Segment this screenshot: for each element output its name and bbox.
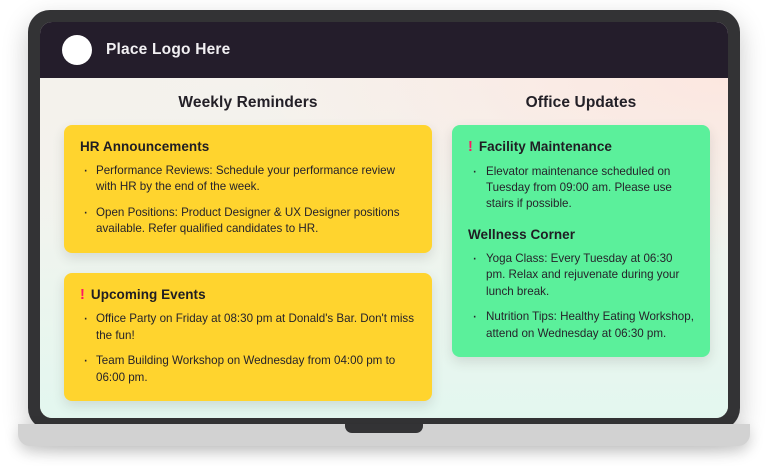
card-title-hr-announcements: HR Announcements	[80, 139, 416, 154]
section-title-office-updates: Office Updates	[452, 94, 710, 112]
card-heading-label: Upcoming Events	[91, 287, 206, 302]
list-item: Nutrition Tips: Healthy Eating Workshop,…	[468, 309, 694, 342]
laptop-base-notch	[345, 424, 423, 433]
logo-text: Place Logo Here	[106, 41, 230, 59]
list-item: Performance Reviews: Schedule your perfo…	[80, 163, 416, 196]
laptop-base	[18, 424, 750, 446]
bullet-list-wellness-corner: Yoga Class: Every Tuesday at 06:30 pm. R…	[468, 251, 694, 342]
weekly-reminders-column: Weekly Reminders HR Announcements Perfor…	[64, 94, 432, 408]
top-bar: Place Logo Here	[40, 22, 728, 78]
section-title-weekly-reminders: Weekly Reminders	[64, 94, 432, 112]
card-title-facility-maintenance: ! Facility Maintenance	[468, 139, 694, 155]
page-body: Weekly Reminders HR Announcements Perfor…	[40, 78, 728, 418]
card-heading-label: Wellness Corner	[468, 227, 575, 242]
alert-exclamation-icon: !	[80, 288, 85, 303]
card-upcoming-events[interactable]: ! Upcoming Events Office Party on Friday…	[64, 273, 432, 401]
card-office-updates[interactable]: ! Facility Maintenance Elevator maintena…	[452, 125, 710, 357]
list-item: Office Party on Friday at 08:30 pm at Do…	[80, 311, 416, 344]
card-title-upcoming-events: ! Upcoming Events	[80, 287, 416, 303]
bullet-list-facility-maintenance: Elevator maintenance scheduled on Tuesda…	[468, 164, 694, 213]
laptop-screen: Place Logo Here Weekly Reminders HR Anno…	[40, 22, 728, 418]
list-item: Team Building Workshop on Wednesday from…	[80, 353, 416, 386]
list-item: Yoga Class: Every Tuesday at 06:30 pm. R…	[468, 251, 694, 300]
logo-placeholder-circle-icon	[62, 35, 92, 65]
bullet-list-hr-announcements: Performance Reviews: Schedule your perfo…	[80, 163, 416, 238]
screenshot-root: Place Logo Here Weekly Reminders HR Anno…	[0, 0, 768, 466]
list-item: Elevator maintenance scheduled on Tuesda…	[468, 164, 694, 213]
alert-exclamation-icon: !	[468, 140, 473, 155]
bullet-list-upcoming-events: Office Party on Friday at 08:30 pm at Do…	[80, 311, 416, 386]
card-title-wellness-corner: Wellness Corner	[468, 227, 694, 242]
list-item: Open Positions: Product Designer & UX De…	[80, 205, 416, 238]
card-heading-label: HR Announcements	[80, 139, 209, 154]
office-updates-column: Office Updates ! Facility Maintenance El…	[452, 94, 710, 408]
card-heading-label: Facility Maintenance	[479, 139, 612, 154]
laptop-frame: Place Logo Here Weekly Reminders HR Anno…	[28, 10, 740, 430]
card-hr-announcements[interactable]: HR Announcements Performance Reviews: Sc…	[64, 125, 432, 253]
